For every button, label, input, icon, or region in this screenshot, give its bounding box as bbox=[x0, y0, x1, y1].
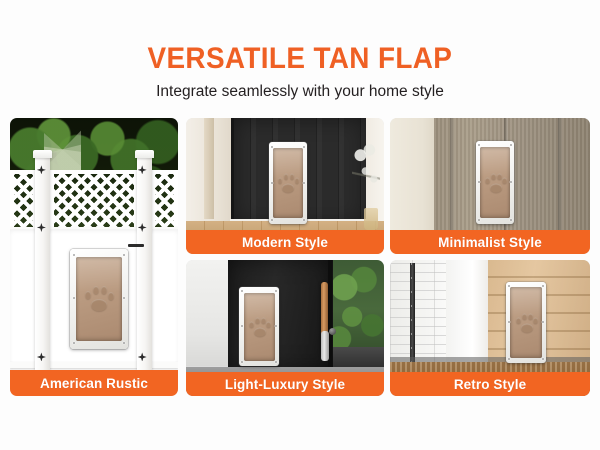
pet-door-flap bbox=[510, 287, 541, 357]
door-groove-1 bbox=[450, 118, 454, 235]
pet-door-flap bbox=[480, 147, 510, 218]
card-label-minimalist: Minimalist Style bbox=[390, 230, 590, 254]
gate-post-left bbox=[35, 157, 50, 370]
gate-post-right bbox=[137, 157, 152, 370]
style-card-light-luxury[interactable]: Light-Luxury Style bbox=[186, 260, 384, 396]
pet-door-flap bbox=[76, 257, 122, 341]
pet-door-light-luxury bbox=[239, 287, 279, 366]
pet-door-flap bbox=[244, 293, 275, 361]
lattice-center bbox=[50, 170, 137, 232]
gate-latch bbox=[128, 244, 144, 247]
door-groove-3 bbox=[558, 118, 562, 235]
paw-print-icon bbox=[515, 312, 537, 333]
steel-handle-grip bbox=[321, 331, 329, 361]
pet-door-minimalist bbox=[476, 141, 514, 224]
card-label-modern: Modern Style bbox=[186, 230, 384, 254]
pet-door-flap bbox=[273, 148, 302, 218]
infographic-page: VERSATILE TAN FLAP Integrate seamlessly … bbox=[0, 0, 600, 450]
pet-door-retro bbox=[506, 282, 546, 364]
style-card-american-rustic[interactable]: American Rustic bbox=[10, 118, 178, 396]
white-wall bbox=[446, 260, 490, 363]
paw-print-icon bbox=[484, 172, 506, 193]
paw-print-icon bbox=[277, 173, 299, 194]
style-card-grid: American Rustic bbox=[0, 0, 600, 450]
decorative-branch bbox=[352, 142, 380, 207]
glass-vase bbox=[364, 208, 378, 230]
style-card-retro[interactable]: Retro Style bbox=[390, 260, 590, 396]
white-brick-wall bbox=[390, 260, 450, 363]
style-card-modern[interactable]: Modern Style bbox=[186, 118, 384, 254]
lattice-left bbox=[10, 170, 37, 232]
wall-left bbox=[186, 260, 230, 366]
style-card-minimalist[interactable]: Minimalist Style bbox=[390, 118, 590, 254]
card-label-retro: Retro Style bbox=[390, 372, 590, 396]
door-jamb bbox=[204, 118, 214, 219]
lattice-right bbox=[151, 170, 178, 232]
door-lock-icon bbox=[329, 328, 336, 335]
planter-box bbox=[331, 347, 384, 369]
dark-vertical-post bbox=[410, 263, 415, 364]
card-label-light-luxury: Light-Luxury Style bbox=[186, 372, 384, 396]
paw-print-icon bbox=[248, 316, 270, 337]
paw-print-icon bbox=[84, 285, 114, 313]
pet-door-american-rustic bbox=[70, 249, 127, 349]
pet-door-modern bbox=[269, 142, 307, 224]
card-label-american-rustic: American Rustic bbox=[10, 370, 178, 396]
photo-american-rustic bbox=[10, 118, 178, 396]
